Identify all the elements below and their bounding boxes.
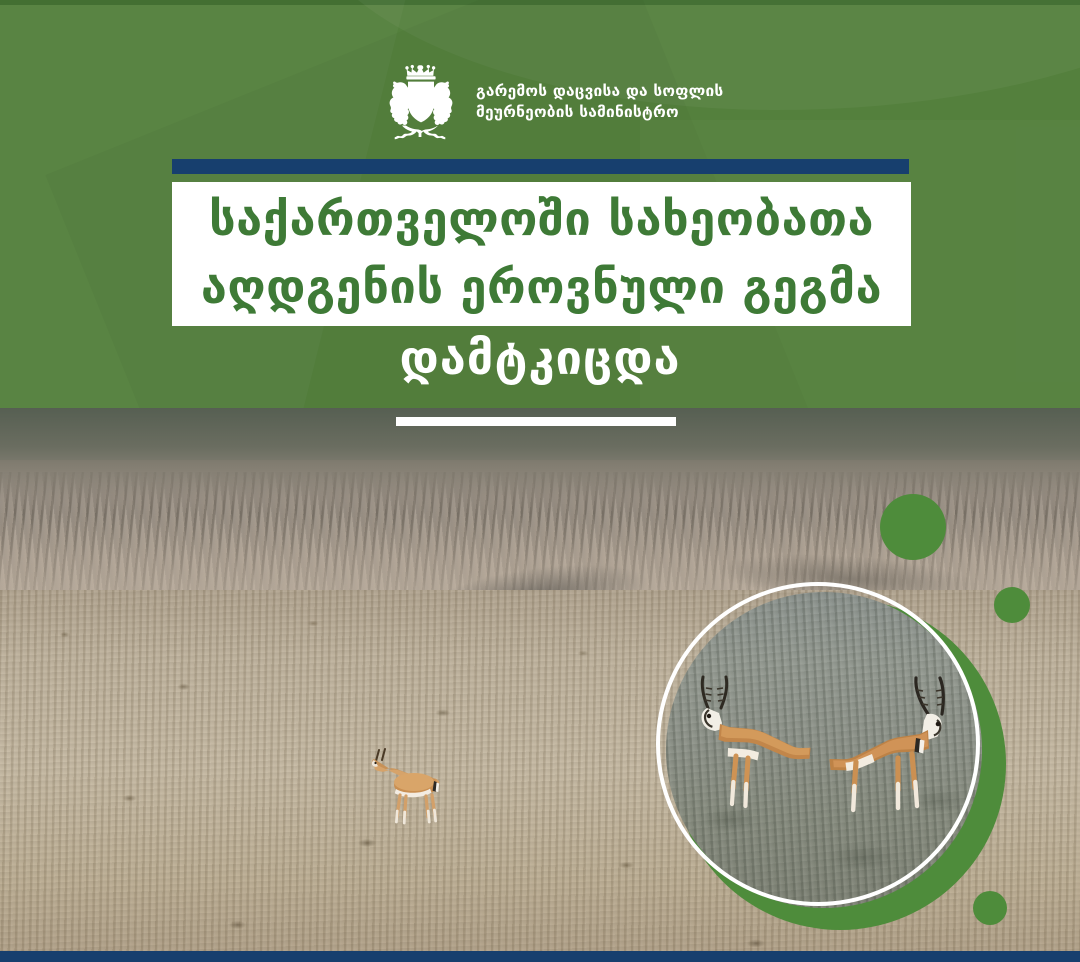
coat-of-arms-icon	[382, 62, 460, 142]
poster-root: გარემოს დაცვისა და სოფლის მეურნეობის სამ…	[0, 0, 1080, 962]
title-white-banner: საქართველოში სახეობათა აღდგენის ეროვნული…	[172, 182, 911, 326]
circular-photo-inset	[650, 574, 1010, 934]
title-navy-rule	[172, 159, 909, 174]
green-dot-large	[880, 494, 946, 560]
title-line-2: აღდგენის ეროვნული გეგმა	[201, 254, 882, 322]
title-subtitle: დამტკიცდა	[0, 333, 1080, 385]
footer-navy-bar	[0, 951, 1080, 962]
subtitle-underline-rule	[396, 417, 676, 426]
inset-white-ring	[656, 582, 980, 906]
title-line-1: საქართველოში სახეობათა	[209, 186, 874, 254]
gazelle-main-icon	[352, 745, 460, 831]
ministry-lockup: გარემოს დაცვისა და სოფლის მეურნეობის სამ…	[382, 62, 723, 142]
ministry-name-text: გარემოს დაცვისა და სოფლის მეურნეობის სამ…	[476, 81, 723, 124]
